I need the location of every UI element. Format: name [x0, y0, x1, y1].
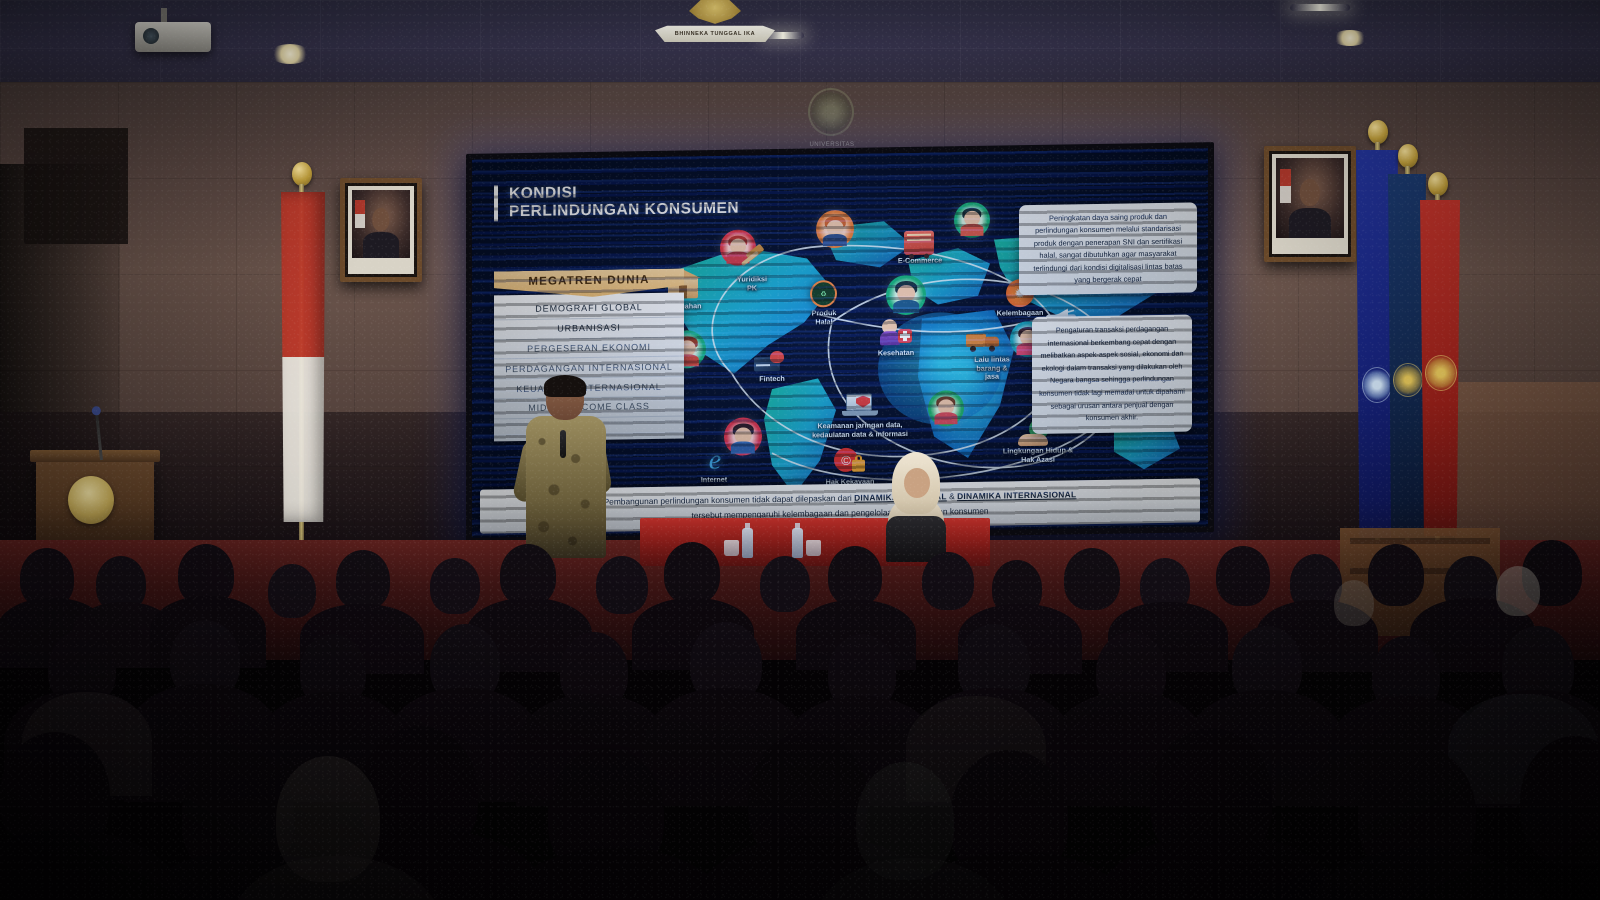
flagpole-finial-icon — [1428, 172, 1448, 196]
projector-lens-icon — [143, 28, 159, 44]
audience-head — [664, 542, 720, 604]
portrait-head-shape — [372, 208, 389, 231]
callout-text: Peningkatan daya saing produk dan perlin… — [1027, 211, 1189, 288]
flag-indonesia — [281, 192, 325, 522]
map-label-fintech: Fintech — [748, 375, 796, 384]
avatar-shirt — [960, 224, 983, 236]
wall-institution-emblem-icon — [808, 88, 854, 136]
portrait-mat — [1272, 154, 1348, 254]
garuda-motto-ribbon: BHINNEKA TUNGGAL IKA — [655, 24, 775, 42]
map-label-keamanan-jaringan: Keamanan jaringan data, kedaulatan data … — [785, 421, 935, 441]
map-label-yuridiksi-pk: Yuridiksi PK — [722, 275, 782, 293]
portrait-photo — [1276, 158, 1344, 238]
callout-box-transaksi-internasional: Pengaturan transaksi perdagangan interna… — [1032, 314, 1192, 433]
portrait-caption — [352, 260, 410, 272]
callout-box-standardisasi: Peningkatan daya saing produk dan perlin… — [1019, 202, 1197, 295]
audience-head — [1064, 548, 1120, 610]
audience-head-hijab-light — [1334, 580, 1374, 626]
flagpole-finial-icon — [292, 162, 312, 186]
framed-portrait-vice-president — [1264, 146, 1356, 262]
halal-glyph: ♻ — [820, 290, 826, 298]
speaker-hair — [544, 375, 586, 397]
organization-emblem-icon — [1425, 355, 1457, 391]
map-label-e-commerce: E-Commerce — [877, 256, 963, 266]
ceiling-light-strip — [1290, 4, 1350, 11]
map-label-lalu-lintas: Lalu lintas barang & jasa — [959, 355, 1025, 382]
avatar-shirt — [731, 441, 755, 454]
slide-title: KONDISI PERLINDUNGAN KONSUMEN — [494, 182, 739, 222]
garuda-body-icon — [689, 0, 741, 28]
shopping-cart-icon — [904, 231, 934, 255]
audience-head — [922, 552, 974, 610]
truck-icon — [966, 331, 1000, 352]
map-label-produk-halal: Produk Halal — [795, 309, 853, 327]
portrait-flag-icon — [355, 200, 364, 229]
ceiling-light — [270, 44, 310, 64]
flagpole-finial-icon — [1398, 144, 1418, 168]
garuda-emblem: BHINNEKA TUNGGAL IKA — [655, 0, 775, 50]
ceiling-light — [1332, 30, 1368, 46]
wall-dark-panel — [24, 128, 128, 244]
portrait-mat — [348, 186, 414, 274]
audience-head — [430, 558, 480, 614]
podium-top-surface — [30, 450, 160, 462]
avatar-shirt — [823, 233, 847, 246]
audience-head — [1216, 546, 1270, 606]
credit-card-icon — [754, 351, 786, 374]
institution-emblem-icon — [1393, 363, 1423, 397]
internet-icon: e — [700, 446, 730, 476]
portrait-body-shape — [363, 232, 399, 258]
flag-red-organization — [1420, 200, 1460, 536]
copyright-lock-icon: © — [834, 448, 866, 477]
audience-head — [500, 544, 556, 606]
projector — [135, 22, 211, 52]
tut-wuri-handayani-emblem-icon — [1362, 367, 1392, 403]
portrait-head-shape — [1300, 179, 1320, 206]
internet-glyph: e — [709, 447, 721, 475]
audience-head — [336, 550, 390, 610]
framed-portrait-president — [340, 178, 422, 282]
portrait-body-shape — [1289, 208, 1331, 238]
avatar-shirt — [934, 412, 957, 424]
audience-head — [268, 564, 316, 618]
moderator-face — [904, 468, 930, 498]
audience-head — [1368, 544, 1424, 606]
slide-title-line2: PERLINDUNGAN KONSUMEN — [509, 200, 739, 222]
gavel-icon — [738, 247, 766, 273]
flagpole-finial-icon — [1368, 120, 1388, 144]
map-label-lingkungan-hidup: Lingkungan Hidup & Hak Azasi — [978, 446, 1098, 465]
audience-head — [828, 546, 882, 606]
portrait-flag-icon — [1280, 169, 1291, 203]
audience-head-hijab-light — [1496, 566, 1540, 616]
portrait-photo — [352, 190, 410, 258]
audience-seating — [0, 500, 1600, 900]
portrait-caption — [1276, 240, 1344, 252]
health-icon — [880, 319, 912, 346]
handheld-microphone-icon — [560, 430, 566, 458]
audience-shoulders-front — [1088, 834, 1350, 900]
data-security-icon — [842, 393, 878, 420]
callout-text: Pengaturan transaksi perdagangan interna… — [1039, 323, 1185, 426]
audience-head — [596, 556, 648, 614]
seminar-hall-scene: BHINNEKA TUNGGAL IKA UNIVERSITAS — [0, 0, 1600, 900]
map-label-kesehatan: Kesehatan — [862, 349, 930, 359]
map-label-internet: Internet — [684, 476, 744, 486]
flag-navy-institution — [1388, 174, 1426, 538]
audience-head — [760, 556, 810, 612]
avatar-shirt — [893, 300, 919, 313]
audience-shoulders-front — [1298, 848, 1554, 900]
